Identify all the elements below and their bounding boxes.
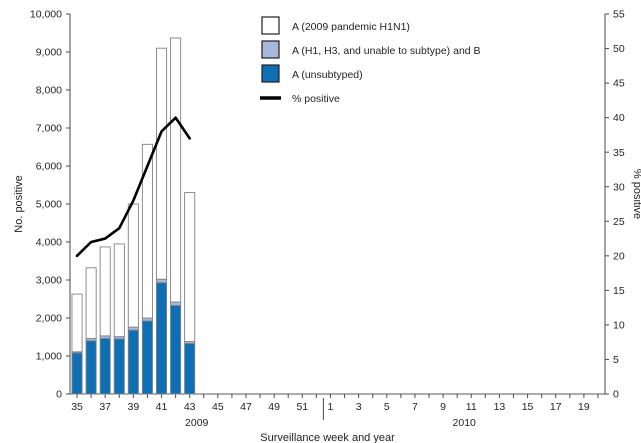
y-axis-tick-label: 6,000 bbox=[36, 161, 62, 173]
bar-segment bbox=[171, 38, 181, 302]
bar-segment bbox=[185, 343, 195, 394]
x-axis-tick-label: 41 bbox=[156, 401, 168, 413]
bar-segment bbox=[100, 339, 110, 394]
y2-axis-tick-label: 35 bbox=[613, 147, 625, 159]
year-label-2010: 2010 bbox=[453, 417, 477, 429]
legend-swatch bbox=[262, 17, 279, 34]
bar-segment bbox=[100, 247, 110, 336]
y2-axis-tick-label: 5 bbox=[613, 354, 619, 366]
x-axis-tick-label: 5 bbox=[384, 401, 390, 413]
chart-figure: 01,0002,0003,0004,0005,0006,0007,0008,00… bbox=[0, 0, 641, 443]
x-axis-tick-label: 39 bbox=[128, 401, 140, 413]
y2-axis-tick-label: 50 bbox=[613, 43, 625, 55]
x-axis-tick-label: 47 bbox=[240, 401, 252, 413]
legend-swatch bbox=[262, 41, 279, 58]
bar-segment bbox=[142, 321, 152, 394]
x-axis-tick-label: 35 bbox=[71, 401, 83, 413]
x-axis-tick-label: 7 bbox=[412, 401, 418, 413]
bar-segment bbox=[142, 318, 152, 321]
bar-segment bbox=[156, 283, 166, 394]
legend-swatch bbox=[262, 65, 279, 82]
bar-segment bbox=[156, 279, 166, 282]
legend-label: % positive bbox=[292, 93, 340, 105]
bar-segment bbox=[171, 305, 181, 394]
bar-segment bbox=[114, 244, 124, 337]
y-axis-left-title: No. positive bbox=[13, 175, 25, 232]
y-axis-tick-label: 4,000 bbox=[36, 237, 62, 249]
y2-axis-tick-label: 25 bbox=[613, 216, 625, 228]
x-axis-tick-label: 51 bbox=[296, 401, 308, 413]
y2-axis-tick-label: 55 bbox=[613, 9, 625, 21]
y-axis-right-title: % positive bbox=[631, 169, 641, 219]
y-axis-tick-label: 3,000 bbox=[36, 275, 62, 287]
y-axis-tick-label: 0 bbox=[56, 389, 62, 401]
legend-label: A (unsubtyped) bbox=[292, 69, 363, 81]
bar-segment bbox=[185, 193, 195, 342]
x-axis-tick-label: 9 bbox=[440, 401, 446, 413]
x-axis-tick-label: 43 bbox=[184, 401, 196, 413]
legend-label: A (H1, H3, and unable to subtype) and B bbox=[292, 45, 481, 57]
x-axis-title: Surveillance week and year bbox=[260, 432, 395, 443]
x-axis-tick-label: 19 bbox=[578, 401, 590, 413]
y-axis-tick-label: 2,000 bbox=[36, 313, 62, 325]
x-axis-tick-label: 17 bbox=[550, 401, 562, 413]
y2-axis-tick-label: 0 bbox=[613, 389, 619, 401]
y2-axis-tick-label: 10 bbox=[613, 320, 625, 332]
bar-segment bbox=[86, 341, 96, 394]
y2-axis-tick-label: 15 bbox=[613, 285, 625, 297]
bar-segment bbox=[114, 339, 124, 394]
bar-segment bbox=[156, 48, 166, 279]
x-axis-tick-label: 13 bbox=[494, 401, 506, 413]
y-axis-tick-label: 9,000 bbox=[36, 47, 62, 59]
bar-segment bbox=[142, 144, 152, 318]
x-axis-tick-label: 45 bbox=[212, 401, 224, 413]
bar-segment bbox=[72, 294, 82, 352]
y-axis-tick-label: 5,000 bbox=[36, 199, 62, 211]
x-axis-tick-label: 11 bbox=[466, 401, 477, 413]
x-axis-tick-label: 1 bbox=[328, 401, 334, 413]
legend-label: A (2009 pandemic H1N1) bbox=[292, 21, 410, 33]
x-axis-tick-label: 37 bbox=[99, 401, 111, 413]
bar-segment bbox=[128, 330, 138, 394]
y-axis-tick-label: 8,000 bbox=[36, 85, 62, 97]
y-axis-tick-label: 1,000 bbox=[36, 351, 62, 363]
x-axis-tick-label: 15 bbox=[522, 401, 534, 413]
x-axis-tick-label: 3 bbox=[356, 401, 362, 413]
y-axis-tick-label: 7,000 bbox=[36, 123, 62, 135]
bar-segment bbox=[86, 268, 96, 339]
y2-axis-tick-label: 20 bbox=[613, 250, 625, 262]
chart-svg: 01,0002,0003,0004,0005,0006,0007,0008,00… bbox=[0, 0, 641, 443]
bar-segment bbox=[128, 204, 138, 327]
bar-segment bbox=[72, 353, 82, 394]
y2-axis-tick-label: 40 bbox=[613, 112, 625, 124]
year-label-2009: 2009 bbox=[185, 417, 209, 429]
y2-axis-tick-label: 30 bbox=[613, 181, 625, 193]
y-axis-tick-label: 10,000 bbox=[30, 9, 62, 21]
y2-axis-tick-label: 45 bbox=[613, 78, 625, 90]
bar-segment bbox=[128, 327, 138, 330]
bar-segment bbox=[171, 302, 181, 305]
x-axis-tick-label: 49 bbox=[268, 401, 280, 413]
